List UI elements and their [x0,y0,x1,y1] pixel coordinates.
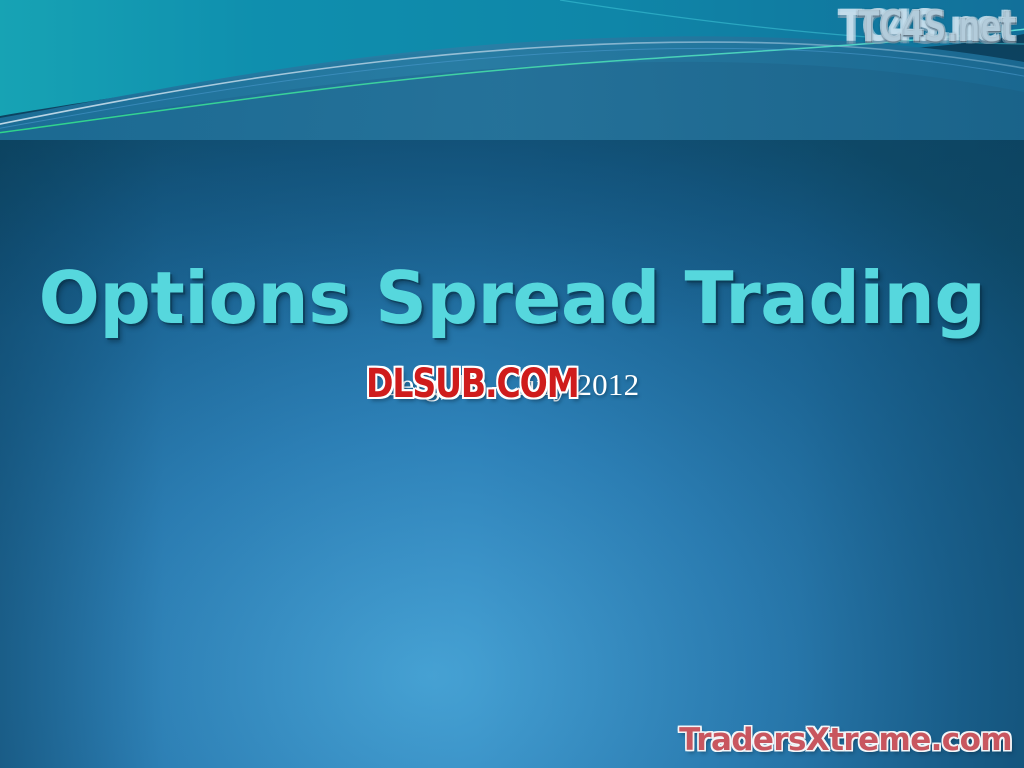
presentation-slide: Options Spread Trading berg, IL – July 2… [0,0,1024,768]
watermark-dlsub: DLSUB.COM [366,361,579,407]
watermark-tc4s: TC4S.net [858,2,1016,53]
watermark-tradersxtreme: TradersXtreme.com [679,722,1012,758]
